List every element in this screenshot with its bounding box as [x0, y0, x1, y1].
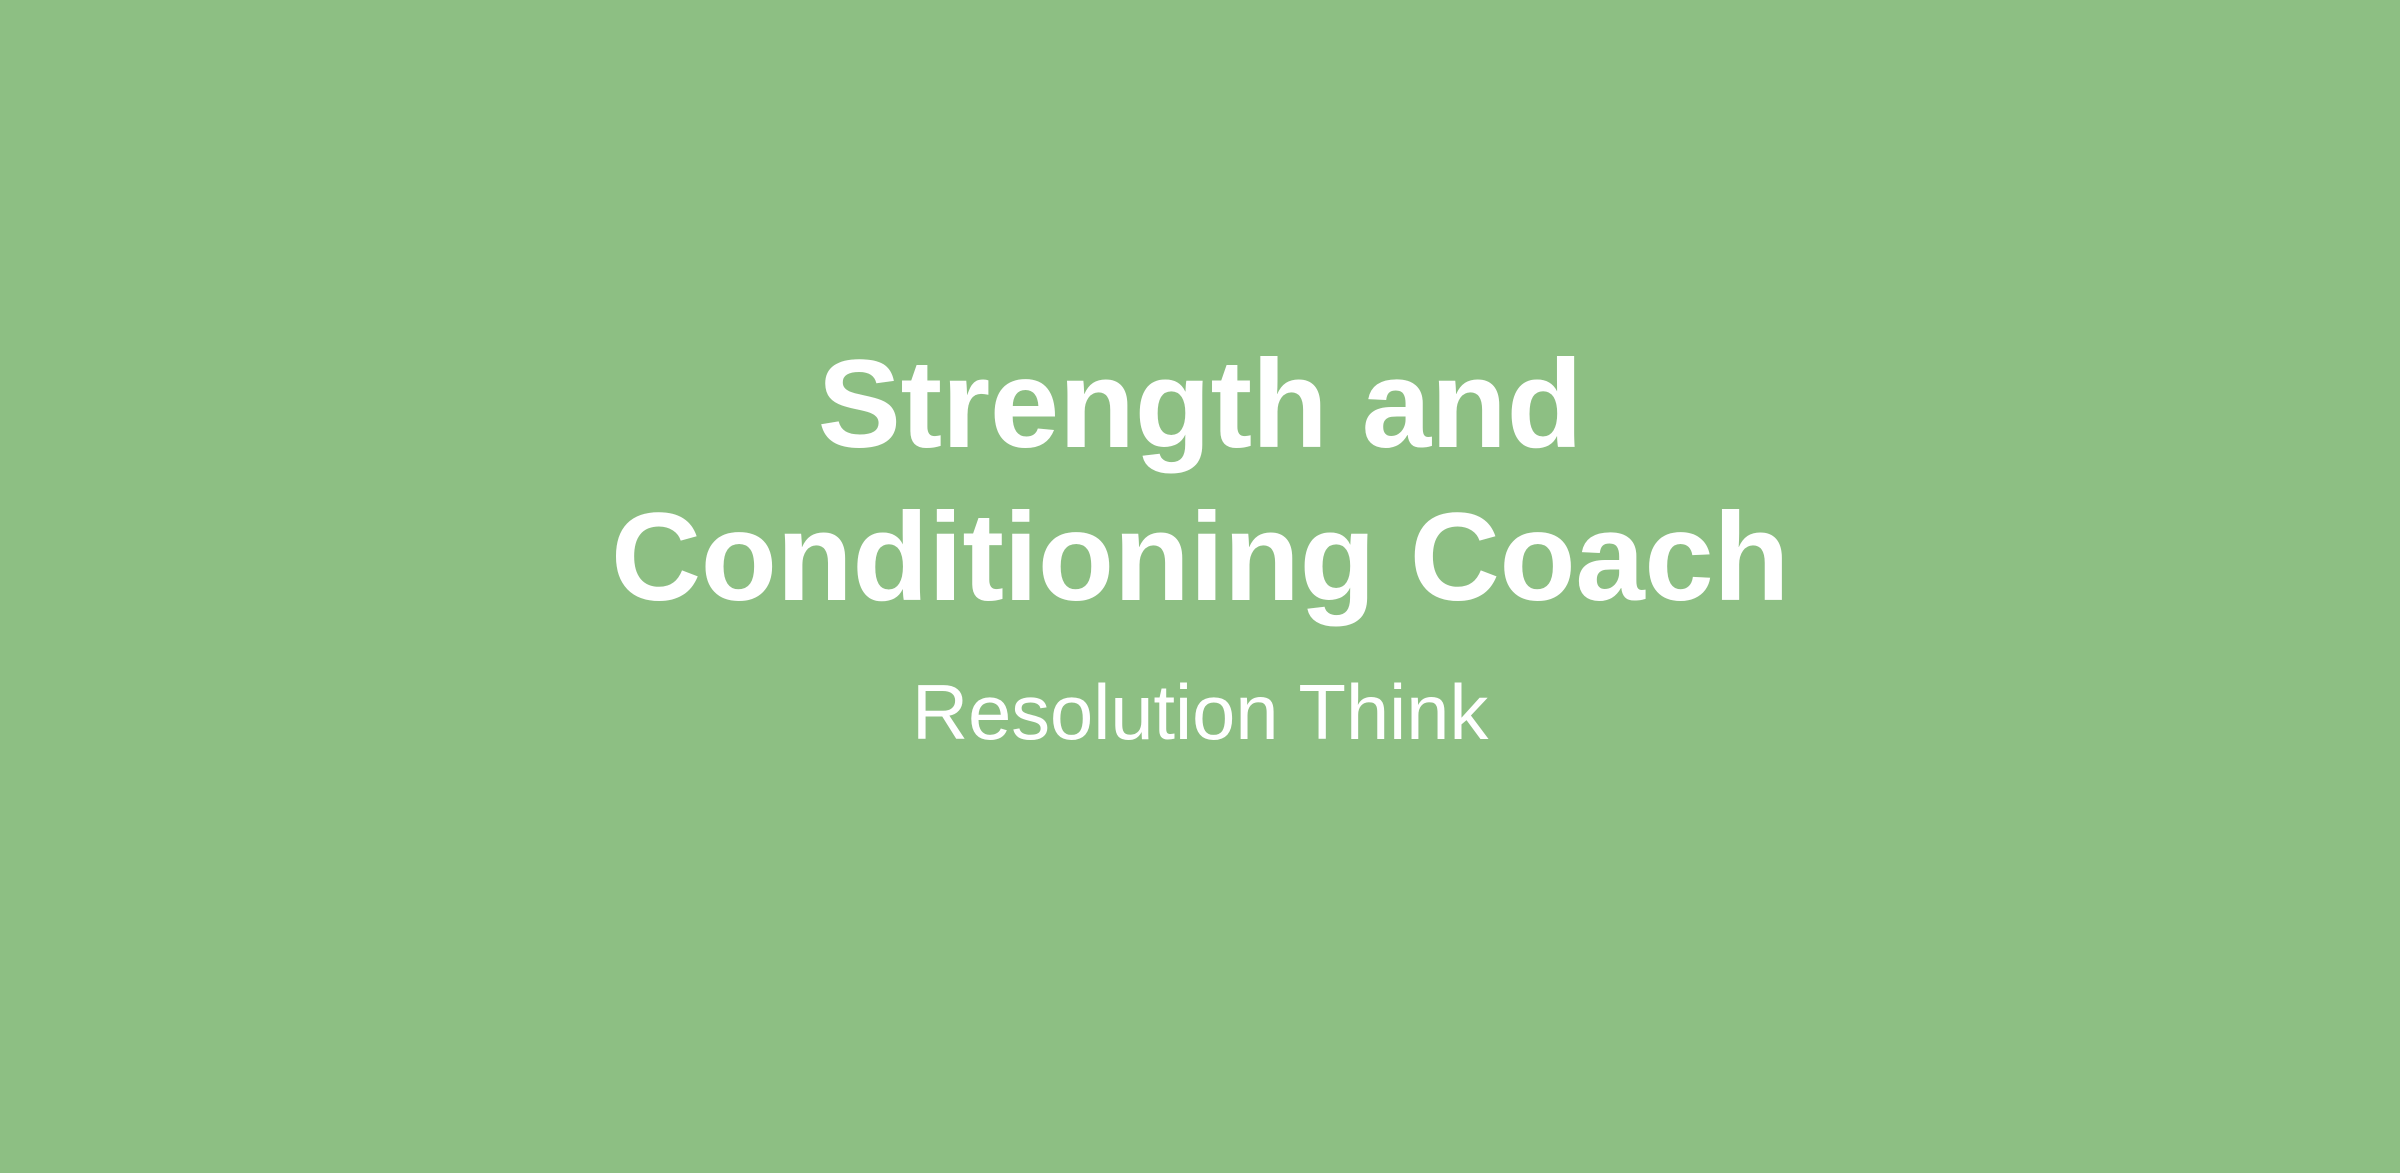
page-subtitle: Resolution Think [912, 666, 1488, 758]
hero-content: Strength and Conditioning Coach Resoluti… [480, 328, 1920, 758]
hero-card: Strength and Conditioning Coach Resoluti… [0, 0, 2400, 1173]
page-title: Strength and Conditioning Coach [480, 328, 1920, 634]
